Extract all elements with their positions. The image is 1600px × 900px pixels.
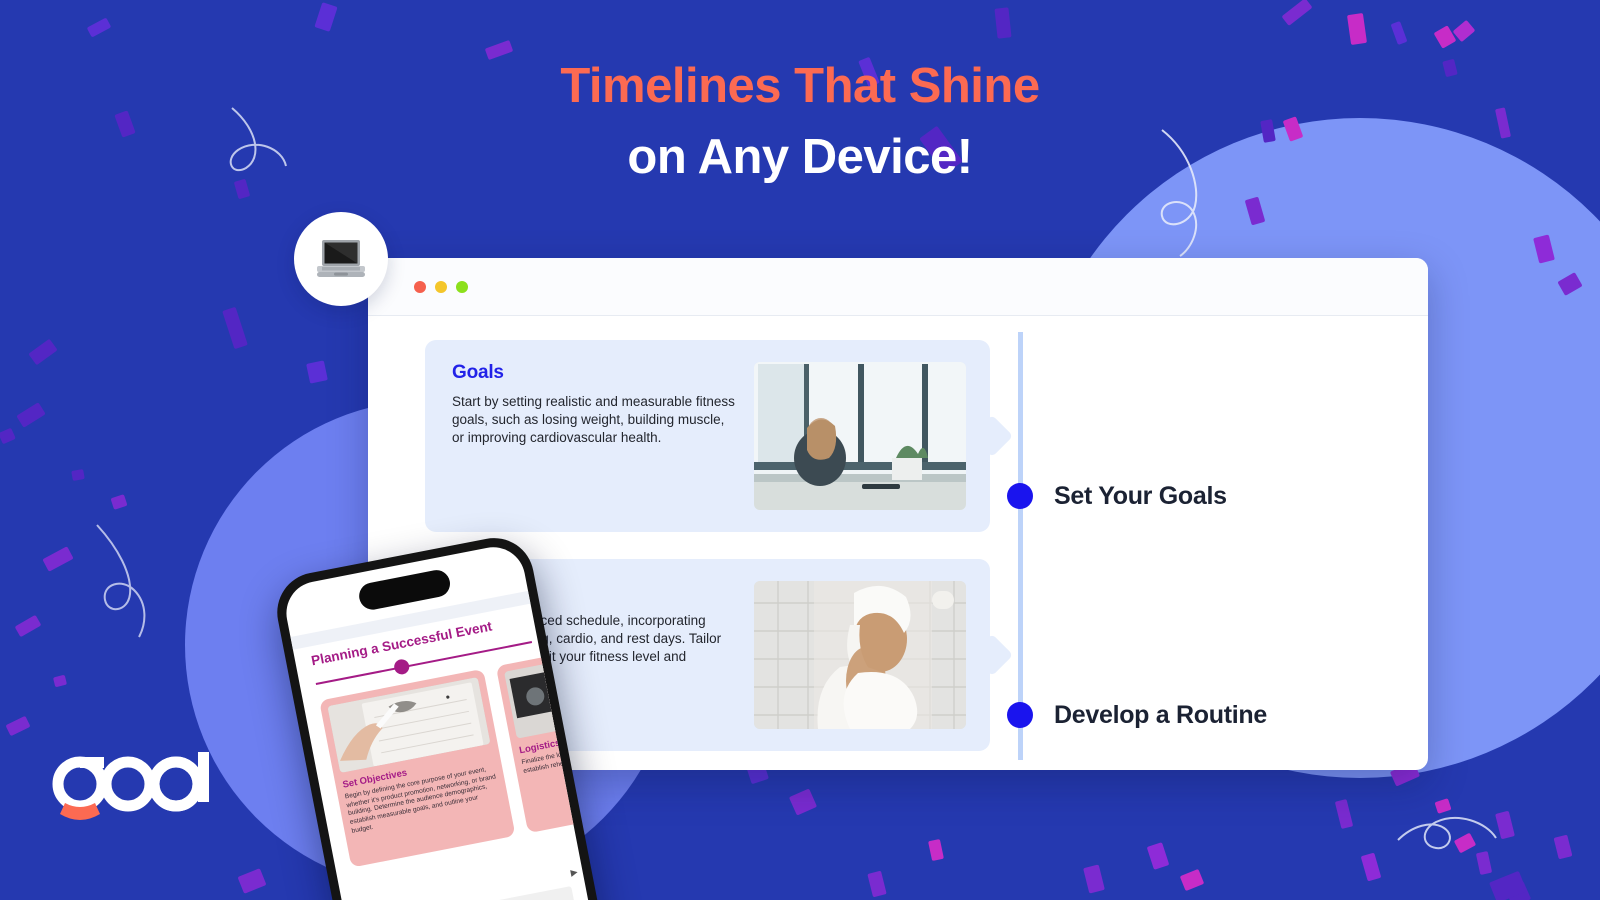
timeline-card-heading-0: Goals	[452, 362, 740, 384]
confetti-piece	[71, 469, 85, 481]
confetti-piece	[1554, 835, 1573, 860]
confetti-piece	[314, 2, 337, 32]
confetti-piece	[42, 546, 73, 572]
confetti-piece	[789, 788, 817, 815]
confetti-piece	[1442, 59, 1458, 77]
confetti-piece	[1260, 119, 1276, 143]
confetti-piece	[1495, 107, 1511, 138]
laptop-icon	[315, 238, 367, 280]
timeline-card-text-0: Goals Start by setting realistic and mea…	[443, 362, 740, 510]
phone-card-0[interactable]: Set Objectives Begin by defining the cor…	[319, 669, 515, 868]
squiggle-left	[97, 525, 144, 637]
phone-next-arrow[interactable]: ▶	[570, 867, 579, 879]
confetti-piece	[919, 126, 963, 175]
confetti-piece	[1391, 21, 1408, 45]
confetti-piece	[1454, 833, 1476, 854]
confetti-piece	[1434, 798, 1451, 814]
timeline-card-image-1	[754, 581, 966, 729]
timeline-label-0: Set Your Goals	[1054, 483, 1227, 509]
confetti-piece	[928, 839, 944, 861]
squiggle-bottom-right	[1398, 818, 1496, 848]
confetti-piece	[1347, 13, 1367, 45]
phone-progress-knob[interactable]	[393, 658, 411, 676]
confetti-piece	[15, 615, 42, 637]
maximize-icon[interactable]	[456, 281, 468, 293]
device-badge-desktop	[294, 212, 388, 306]
timeline-card-body-0: Start by setting realistic and measurabl…	[452, 393, 740, 447]
timeline-card-image-0	[754, 362, 966, 510]
confetti-piece	[110, 494, 127, 510]
poster-canvas: Timelines That Shine on Any Device! Goal…	[0, 0, 1600, 900]
timeline-label-1: Develop a Routine	[1054, 702, 1267, 728]
timeline-card-0[interactable]: Goals Start by setting realistic and mea…	[425, 340, 990, 532]
timeline-node-1[interactable]	[1007, 702, 1033, 728]
confetti-piece	[858, 57, 880, 87]
confetti-piece	[16, 402, 45, 428]
confetti-piece	[87, 17, 112, 37]
confetti-piece	[1453, 20, 1476, 42]
minimize-icon[interactable]	[435, 281, 447, 293]
confetti-piece	[1495, 811, 1515, 840]
confetti-piece	[306, 360, 328, 383]
hero-title-line1: Timelines That Shine	[0, 62, 1600, 111]
timeline-rail	[1018, 332, 1023, 760]
confetti-piece	[485, 40, 514, 60]
confetti-piece	[1281, 0, 1312, 26]
confetti-piece	[238, 868, 267, 894]
confetti-piece	[114, 110, 135, 137]
confetti-piece	[994, 7, 1011, 38]
timeline-node-0[interactable]	[1007, 483, 1033, 509]
confetti-piece	[53, 675, 67, 688]
confetti-piece	[1180, 869, 1205, 891]
confetti-piece	[234, 179, 250, 200]
confetti-piece	[1434, 25, 1457, 49]
phone-horizontal-scrollbar[interactable]: ◀	[361, 886, 575, 900]
phone-notch	[357, 568, 452, 612]
confetti-piece	[1083, 864, 1105, 893]
browser-titlebar	[368, 258, 1428, 316]
confetti-piece	[222, 307, 248, 349]
brand-logo: good	[48, 748, 220, 829]
confetti-piece	[1335, 799, 1353, 829]
good-logo-icon	[48, 748, 220, 824]
confetti-piece	[1476, 851, 1492, 875]
squiggle-top-left	[231, 108, 286, 170]
confetti-piece	[1147, 842, 1170, 870]
confetti-piece	[28, 339, 57, 366]
close-icon[interactable]	[414, 281, 426, 293]
confetti-piece	[1361, 853, 1382, 882]
confetti-piece	[0, 428, 16, 445]
confetti-piece	[867, 871, 886, 898]
confetti-piece	[5, 716, 30, 736]
